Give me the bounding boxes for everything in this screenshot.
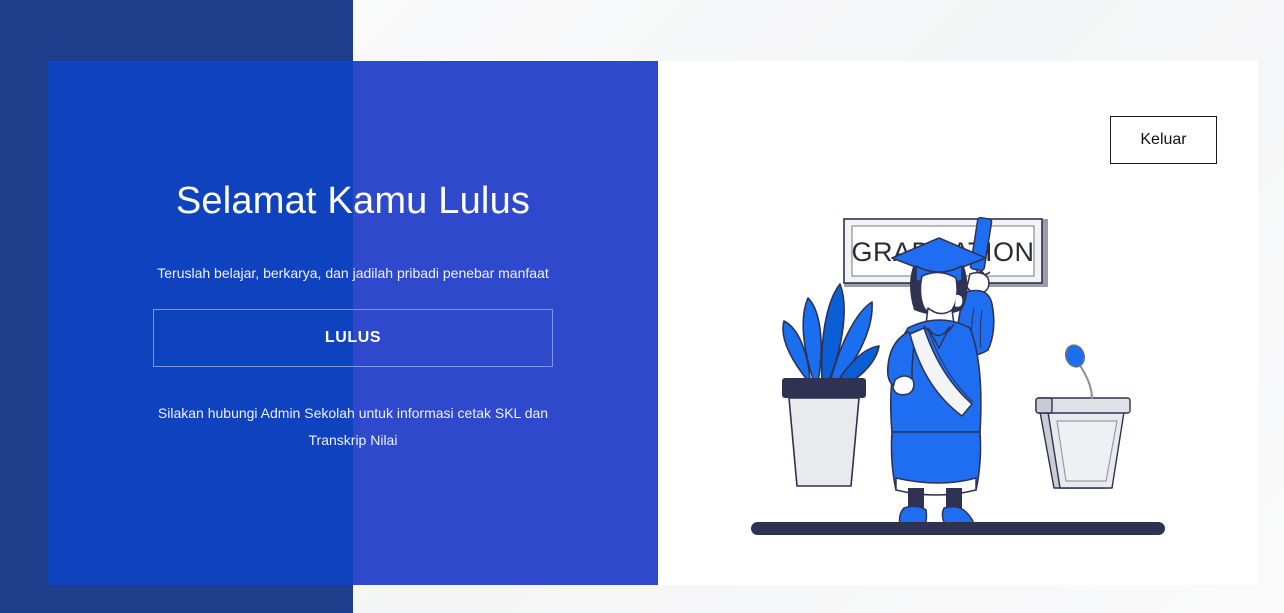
microphone-icon: [1063, 343, 1092, 399]
status-badge: LULUS: [153, 309, 553, 367]
message-panel-content: Selamat Kamu Lulus Teruslah belajar, ber…: [48, 61, 658, 585]
status-badge-label: LULUS: [325, 329, 381, 347]
podium-icon: [1036, 398, 1130, 488]
potted-plant-icon: [782, 284, 879, 486]
illustration-panel: Keluar GRADUATION: [658, 61, 1258, 585]
graduation-illustration-svg: GRADUATION: [748, 216, 1168, 546]
graduation-illustration: GRADUATION: [658, 61, 1258, 585]
contact-note: Silakan hubungi Admin Sekolah untuk info…: [143, 367, 563, 454]
message-panel: Selamat Kamu Lulus Teruslah belajar, ber…: [48, 61, 658, 585]
graduation-card: Selamat Kamu Lulus Teruslah belajar, ber…: [48, 61, 1258, 585]
page-subtitle: Teruslah belajar, berkarya, dan jadilah …: [157, 223, 548, 281]
floor-bar: [751, 522, 1165, 535]
page-title: Selamat Kamu Lulus: [176, 181, 530, 223]
